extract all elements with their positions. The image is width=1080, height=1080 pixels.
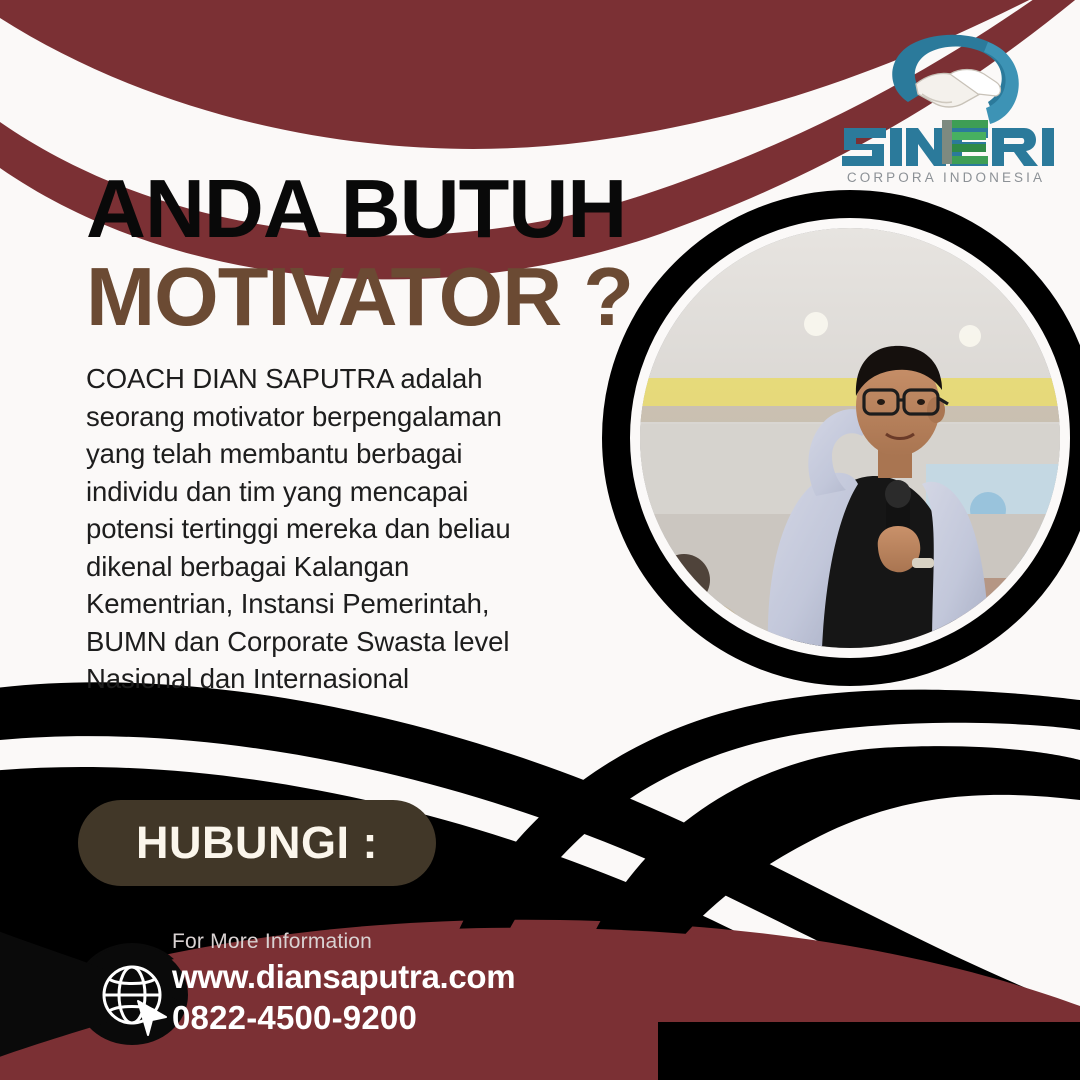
body-line: dikenal berbagai Kalangan xyxy=(86,548,586,586)
headline-line-2: MOTIVATOR ? xyxy=(86,256,706,338)
body-line: seorang motivator berpengalaman xyxy=(86,398,586,436)
handshake-icon xyxy=(916,70,1001,108)
body-line: potensi tertinggi mereka dan beliau xyxy=(86,510,586,548)
hubungi-button[interactable]: HUBUNGI : xyxy=(78,800,436,886)
body-line: yang telah membantu berbagai xyxy=(86,435,586,473)
body-line: Kementrian, Instansi Pemerintah, xyxy=(86,585,586,623)
phone-number[interactable]: 0822-4500-9200 xyxy=(172,997,515,1039)
poster-canvas: ANDA BUTUH MOTIVATOR ? COACH DIAN SAPUTR… xyxy=(0,0,1080,1080)
page-title: ANDA BUTUH MOTIVATOR ? xyxy=(86,168,706,338)
hubungi-label: HUBUNGI : xyxy=(136,817,378,869)
headline-line-1: ANDA BUTUH xyxy=(86,168,706,250)
logo-artwork: CORPORA INDONESIA xyxy=(838,28,1054,190)
body-line: BUMN dan Corporate Swasta level xyxy=(86,623,586,661)
body-line: COACH DIAN SAPUTRA adalah xyxy=(86,360,586,398)
body-paragraph: COACH DIAN SAPUTRA adalah seorang motiva… xyxy=(86,360,586,698)
bottom-right-black-block xyxy=(658,1022,1080,1080)
body-line: Nasional dan Internasional xyxy=(86,660,586,698)
website-link[interactable]: www.diansaputra.com xyxy=(172,957,515,997)
globe-cursor-icon xyxy=(88,953,180,1045)
cursor-arrow-icon xyxy=(138,1001,166,1035)
sinergi-logo: CORPORA INDONESIA xyxy=(838,28,1054,190)
info-caption: For More Information xyxy=(172,930,515,954)
body-line: individu dan tim yang mencapai xyxy=(86,473,586,511)
logo-tagline: CORPORA INDONESIA xyxy=(847,170,1045,185)
contact-info: For More Information www.diansaputra.com… xyxy=(172,930,515,1039)
